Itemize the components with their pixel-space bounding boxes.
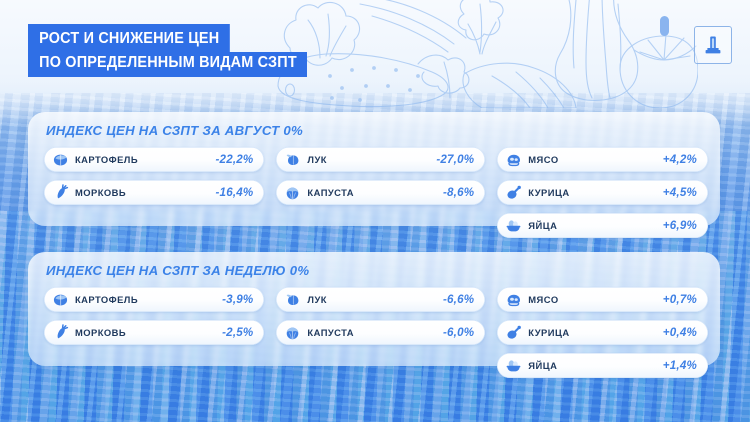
row-chicken[interactable]: КУРИЦА +0,4% (497, 320, 708, 345)
row-meat-label: МЯСО (528, 294, 663, 305)
chicken-icon (505, 324, 522, 341)
row-meat-value: +4,2% (663, 153, 697, 166)
cabbage-icon (284, 184, 301, 201)
chicken-icon (505, 184, 522, 201)
row-onion[interactable]: ЛУК -27,0% (276, 147, 485, 172)
vegetable-line-art-decoration (268, 0, 698, 108)
row-carrot-value: -2,5% (222, 326, 253, 339)
row-cabbage[interactable]: КАПУСТА -6,0% (276, 320, 485, 345)
panel-week-columns: КАРТОФЕЛЬ -3,9% МОРКОВЬ -2,5% ЛУК (44, 287, 708, 378)
row-cabbage-label: КАПУСТА (307, 327, 443, 338)
row-chicken-value: +4,5% (663, 186, 697, 199)
row-meat-label: МЯСО (528, 154, 663, 165)
infographic-canvas: РОСТ И СНИЖЕНИЕ ЦЕН ПО ОПРЕДЕЛЕННЫМ ВИДА… (0, 0, 750, 422)
row-onion[interactable]: ЛУК -6,6% (276, 287, 485, 312)
onion-icon (284, 291, 301, 308)
row-onion-label: ЛУК (307, 294, 443, 305)
headline-banner: РОСТ И СНИЖЕНИЕ ЦЕН ПО ОПРЕДЕЛЕННЫМ ВИДА… (28, 24, 328, 77)
meat-icon (505, 291, 522, 308)
row-chicken[interactable]: КУРИЦА +4,5% (497, 180, 708, 205)
row-onion-value: -6,6% (443, 293, 474, 306)
panel-august-column-vegetables-1: КАРТОФЕЛЬ -22,2% МОРКОВЬ -16,4% (44, 147, 264, 238)
row-carrot-label: МОРКОВЬ (75, 187, 215, 198)
row-carrot[interactable]: МОРКОВЬ -2,5% (44, 320, 264, 345)
row-potato[interactable]: КАРТОФЕЛЬ -3,9% (44, 287, 264, 312)
row-potato-value: -22,2% (215, 153, 253, 166)
panel-august-title: ИНДЕКС ЦЕН НА СЗПТ ЗА АВГУСТ 0% (46, 123, 303, 138)
row-cabbage-value: -6,0% (443, 326, 474, 339)
eggs-icon (505, 217, 522, 234)
row-meat[interactable]: МЯСО +4,2% (497, 147, 708, 172)
row-cabbage-value: -8,6% (443, 186, 474, 199)
headline-line-2: ПО ОПРЕДЕЛЕННЫМ ВИДАМ СЗПТ (28, 52, 307, 78)
potato-icon (52, 291, 69, 308)
row-eggs-value: +1,4% (663, 359, 697, 372)
eggs-icon (505, 357, 522, 374)
row-carrot-label: МОРКОВЬ (75, 327, 222, 338)
rosstat-emblem-icon (694, 26, 732, 64)
row-eggs[interactable]: ЯЙЦА +6,9% (497, 213, 708, 238)
panel-week-column-vegetables-1: КАРТОФЕЛЬ -3,9% МОРКОВЬ -2,5% (44, 287, 264, 378)
panel-august-column-protein: МЯСО +4,2% КУРИЦА +4,5% ЯЙЦА +6,9% (497, 147, 708, 238)
row-carrot[interactable]: МОРКОВЬ -16,4% (44, 180, 264, 205)
panel-week-column-protein: МЯСО +0,7% КУРИЦА +0,4% ЯЙЦА +1,4% (497, 287, 708, 378)
panel-august-column-vegetables-2: ЛУК -27,0% КАПУСТА -8,6% (276, 147, 485, 238)
row-chicken-label: КУРИЦА (528, 327, 663, 338)
row-cabbage[interactable]: КАПУСТА -8,6% (276, 180, 485, 205)
potato-icon (52, 151, 69, 168)
row-potato-label: КАРТОФЕЛЬ (75, 154, 215, 165)
panel-week-title: ИНДЕКС ЦЕН НА СЗПТ ЗА НЕДЕЛЮ 0% (46, 263, 309, 278)
row-onion-value: -27,0% (436, 153, 474, 166)
panel-august-columns: КАРТОФЕЛЬ -22,2% МОРКОВЬ -16,4% ЛУК (44, 147, 708, 238)
carrot-icon (52, 184, 69, 201)
panel-august: ИНДЕКС ЦЕН НА СЗПТ ЗА АВГУСТ 0% КАРТОФЕЛ… (28, 112, 720, 226)
row-eggs-value: +6,9% (663, 219, 697, 232)
row-potato-label: КАРТОФЕЛЬ (75, 294, 222, 305)
row-eggs-label: ЯЙЦА (528, 360, 663, 371)
cabbage-icon (284, 324, 301, 341)
row-chicken-label: КУРИЦА (528, 187, 663, 198)
row-eggs[interactable]: ЯЙЦА +1,4% (497, 353, 708, 378)
panel-week-column-vegetables-2: ЛУК -6,6% КАПУСТА -6,0% (276, 287, 485, 378)
row-chicken-value: +0,4% (663, 326, 697, 339)
row-carrot-value: -16,4% (215, 186, 253, 199)
meat-icon (505, 151, 522, 168)
row-meat[interactable]: МЯСО +0,7% (497, 287, 708, 312)
row-cabbage-label: КАПУСТА (307, 187, 443, 198)
carrot-icon (52, 324, 69, 341)
row-onion-label: ЛУК (307, 154, 436, 165)
row-meat-value: +0,7% (663, 293, 697, 306)
headline-line-1: РОСТ И СНИЖЕНИЕ ЦЕН (28, 24, 230, 52)
row-potato[interactable]: КАРТОФЕЛЬ -22,2% (44, 147, 264, 172)
row-eggs-label: ЯЙЦА (528, 220, 663, 231)
panel-week: ИНДЕКС ЦЕН НА СЗПТ ЗА НЕДЕЛЮ 0% КАРТОФЕЛ… (28, 252, 720, 366)
row-potato-value: -3,9% (222, 293, 253, 306)
onion-icon (284, 151, 301, 168)
